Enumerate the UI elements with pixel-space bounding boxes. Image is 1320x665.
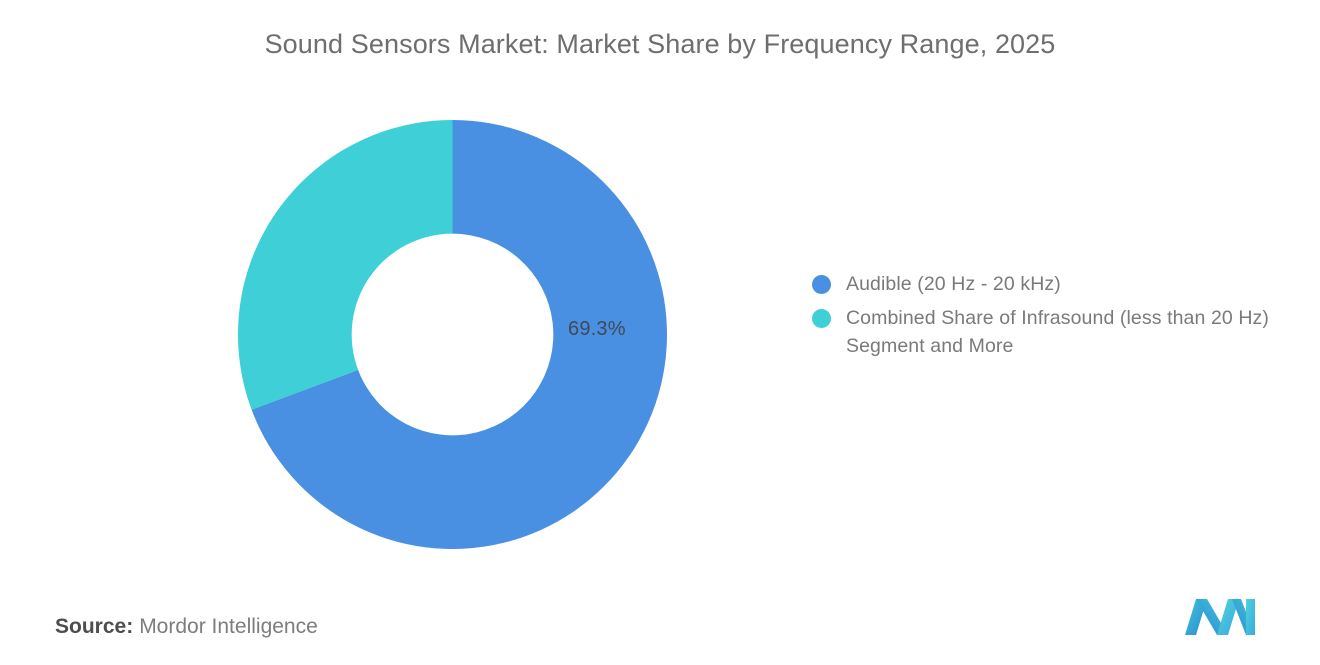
mi-logo-svg: [1183, 597, 1257, 637]
legend-item-infrasound[interactable]: Combined Share of Infrasound (less than …: [812, 304, 1282, 360]
donut-slice-infrasound[interactable]: [238, 120, 453, 410]
legend-label-audible: Audible (20 Hz - 20 kHz): [846, 270, 1282, 298]
chart-figure: Sound Sensors Market: Market Share by Fr…: [0, 0, 1320, 665]
donut-slice-label-audible: 69.3%: [568, 318, 626, 341]
source-label: Source:: [55, 615, 133, 638]
mordor-intelligence-logo-icon: [1183, 597, 1257, 637]
source-line: Source:Mordor Intelligence: [55, 612, 318, 642]
legend-label-infrasound: Combined Share of Infrasound (less than …: [846, 304, 1282, 360]
legend-swatch-infrasound-icon: [812, 309, 831, 328]
source-value: Mordor Intelligence: [139, 615, 318, 638]
legend-swatch-audible-icon: [812, 275, 831, 294]
page-title: Sound Sensors Market: Market Share by Fr…: [0, 28, 1320, 60]
chart-legend: Audible (20 Hz - 20 kHz) Combined Share …: [812, 270, 1282, 366]
legend-item-audible[interactable]: Audible (20 Hz - 20 kHz): [812, 270, 1282, 298]
donut-chart: 69.3%: [238, 120, 667, 549]
